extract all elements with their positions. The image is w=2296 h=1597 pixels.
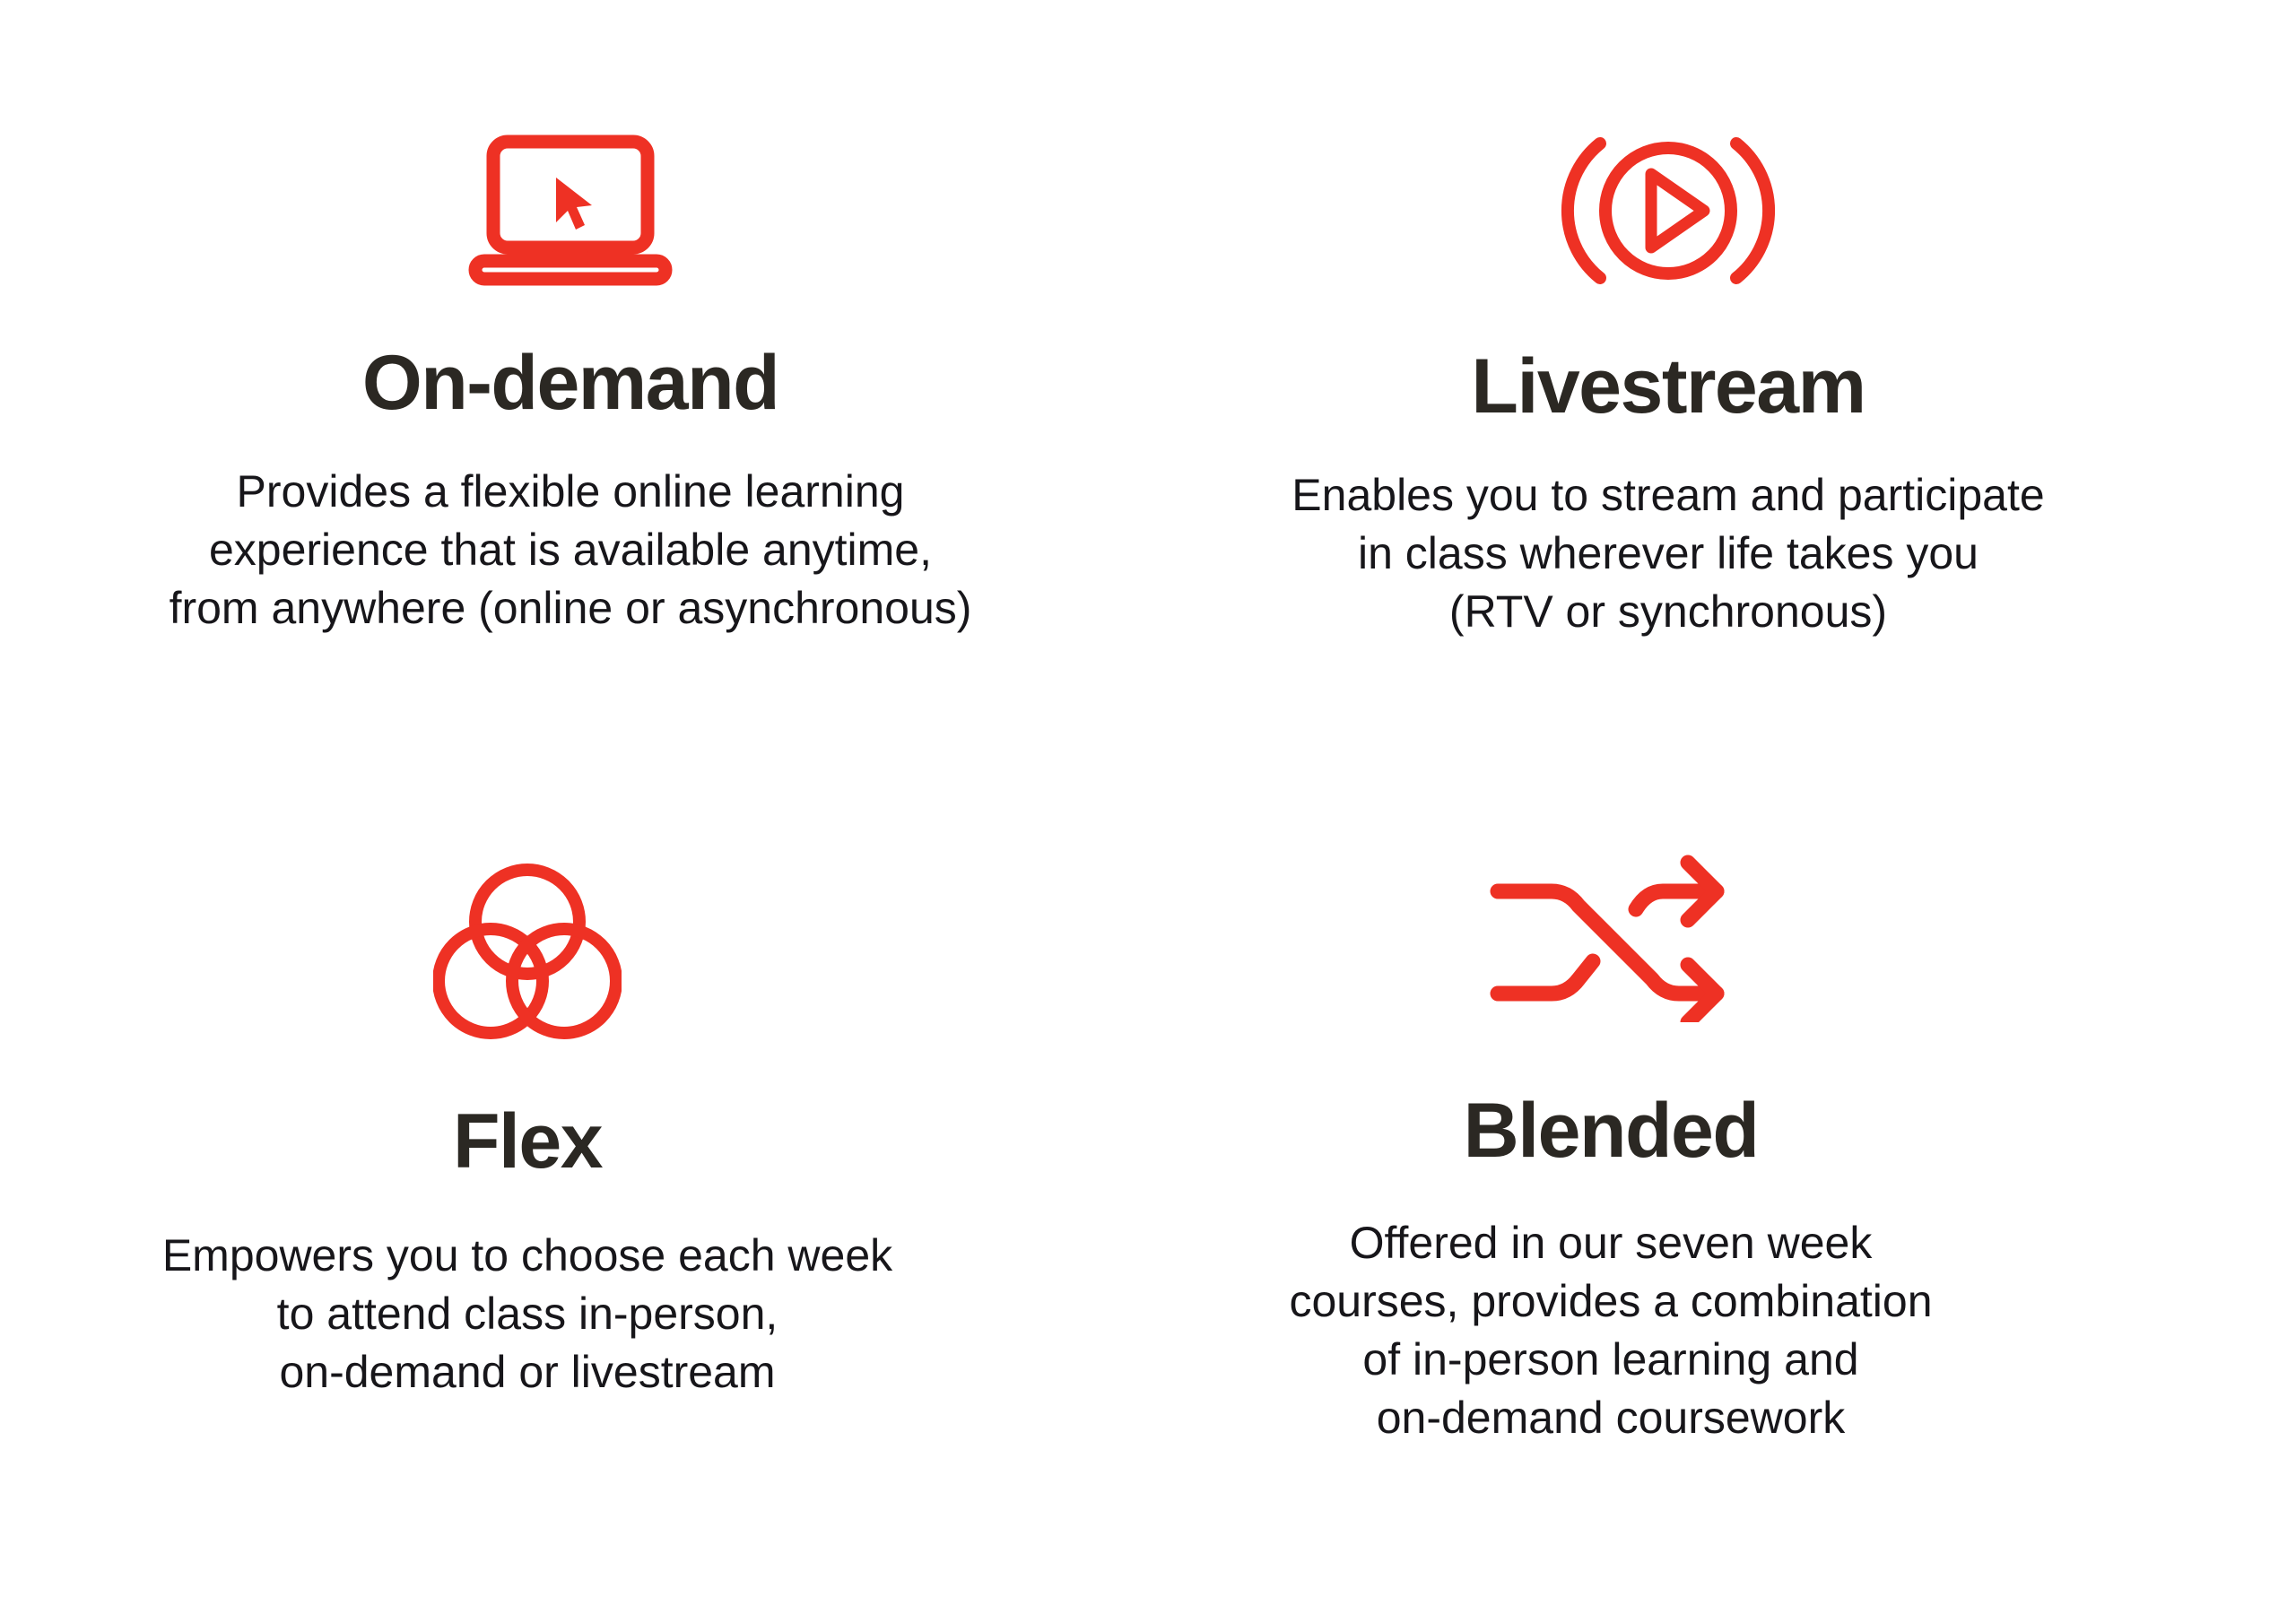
card-blended: Blended Offered in our seven week course…: [1148, 798, 2296, 1597]
broadcast-play-icon: [1561, 126, 1776, 296]
card-flex: Flex Empowers you to choose each week to…: [0, 798, 1148, 1597]
laptop-cursor-icon: [463, 126, 678, 287]
shuffle-arrows-icon: [1485, 852, 1736, 1022]
card-title-on-demand: On-demand: [362, 344, 778, 421]
learning-modes-grid: On-demand Provides a flexible online lea…: [0, 0, 2296, 1597]
description-line: Empowers you to choose each week: [162, 1227, 892, 1285]
card-livestream: Livestream Enables you to stream and par…: [1148, 0, 2296, 798]
card-on-demand: On-demand Provides a flexible online lea…: [0, 0, 1148, 798]
description-line: courses, provides a combination: [1289, 1272, 1932, 1331]
card-description-livestream: Enables you to stream and participate in…: [1291, 466, 2044, 641]
description-line: (RTV or synchronous): [1291, 583, 2044, 641]
card-title-livestream: Livestream: [1471, 348, 1865, 425]
card-description-on-demand: Provides a flexible online learning expe…: [170, 463, 972, 638]
card-title-blended: Blended: [1464, 1092, 1759, 1169]
card-title-flex: Flex: [453, 1103, 602, 1180]
description-line: to attend class in-person,: [162, 1285, 892, 1343]
description-line: of in-person learning and: [1289, 1331, 1932, 1389]
description-line: on-demand or livestream: [162, 1343, 892, 1402]
description-line: Enables you to stream and participate: [1291, 466, 2044, 525]
three-overlapping-circles-icon: [433, 861, 622, 1040]
description-line: Provides a flexible online learning: [170, 463, 972, 521]
description-line: in class wherever life takes you: [1291, 525, 2044, 583]
description-line: from anywhere (online or asynchronous): [170, 579, 972, 638]
card-description-blended: Offered in our seven week courses, provi…: [1289, 1214, 1932, 1447]
description-line: Offered in our seven week: [1289, 1214, 1932, 1272]
description-line: on-demand coursework: [1289, 1389, 1932, 1447]
card-description-flex: Empowers you to choose each week to atte…: [162, 1227, 892, 1402]
description-line: experience that is available anytime,: [170, 521, 972, 579]
